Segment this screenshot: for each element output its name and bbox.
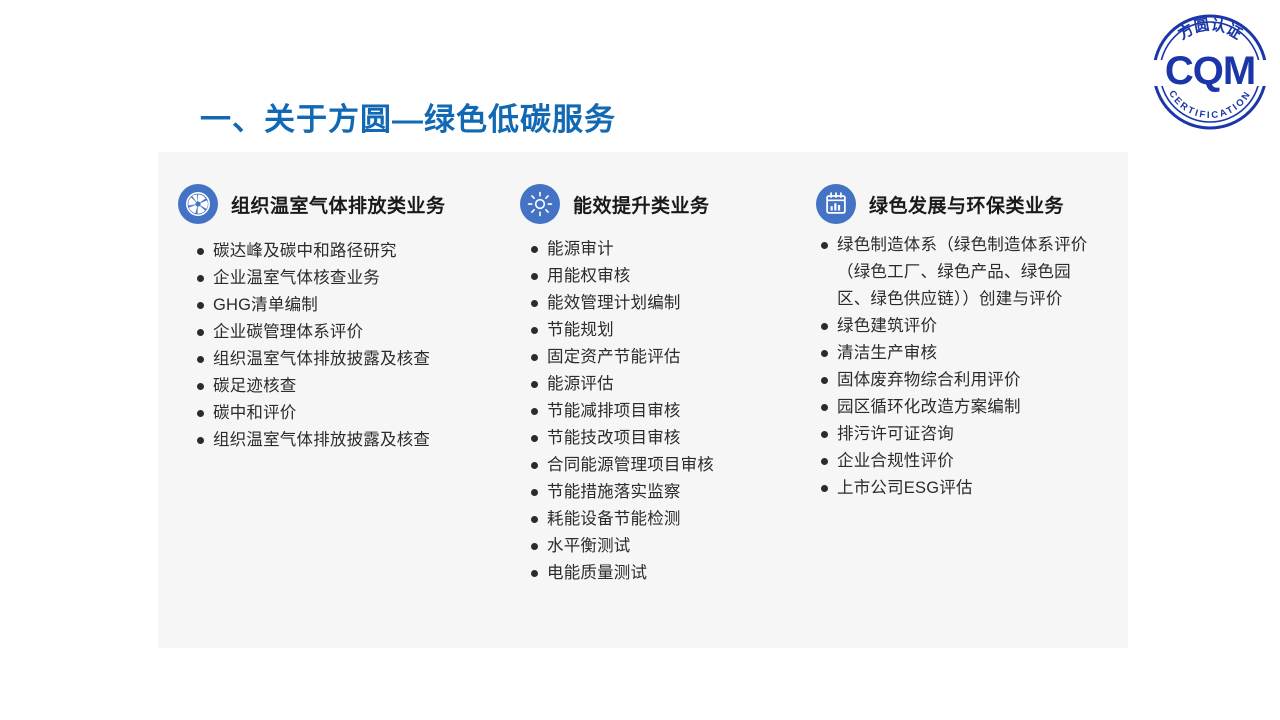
service-column-green-development: 绿色发展与环保类业务 绿色制造体系（绿色制造体系评价（绿色工厂、绿色产品、绿色园…: [808, 152, 1128, 502]
logo-center-text: CQM: [1165, 49, 1255, 93]
list-item: 能源评估: [530, 371, 808, 398]
list-item: 上市公司ESG评估: [820, 475, 1095, 502]
service-column-energy-efficiency: 能效提升类业务 能源审计 用能权审核 能效管理计划编制 节能规划 固定资产节能评…: [508, 152, 808, 587]
list-item: 碳达峰及碳中和路径研究: [196, 238, 508, 265]
column-header: 绿色发展与环保类业务: [816, 184, 1128, 224]
list-item: 固定资产节能评估: [530, 344, 808, 371]
column-title: 组织温室气体排放类业务: [231, 191, 446, 218]
logo-arc-bottom-text: CERTIFICATION: [1166, 89, 1254, 122]
list-item: 电能质量测试: [530, 560, 808, 587]
list-item: 组织温室气体排放披露及核查: [196, 427, 508, 454]
list-item: 绿色制造体系（绿色制造体系评价（绿色工厂、绿色产品、绿色园区、绿色供应链））创建…: [820, 232, 1095, 313]
list-item: 节能规划: [530, 317, 808, 344]
content-panel: 组织温室气体排放类业务 碳达峰及碳中和路径研究 企业温室气体核查业务 GHG清单…: [158, 152, 1128, 648]
slide-root: 方圆认证 CERTIFICATION CQM 一、关于方圆—绿色低碳服务: [0, 0, 1280, 720]
column-header: 能效提升类业务: [520, 184, 808, 224]
calendar-chart-icon: [816, 184, 856, 224]
list-item: 绿色建筑评价: [820, 313, 1095, 340]
list-item: 用能权审核: [530, 263, 808, 290]
service-column-greenhouse-gas: 组织温室气体排放类业务 碳达峰及碳中和路径研究 企业温室气体核查业务 GHG清单…: [158, 152, 508, 454]
list-item: 合同能源管理项目审核: [530, 452, 808, 479]
list-item: 企业合规性评价: [820, 448, 1095, 475]
list-item: 能效管理计划编制: [530, 290, 808, 317]
service-list: 能源审计 用能权审核 能效管理计划编制 节能规划 固定资产节能评估 能源评估 节…: [530, 236, 808, 587]
page-title: 一、关于方圆—绿色低碳服务: [200, 94, 616, 139]
service-list: 碳达峰及碳中和路径研究 企业温室气体核查业务 GHG清单编制 企业碳管理体系评价…: [196, 238, 508, 454]
list-item: 节能技改项目审核: [530, 425, 808, 452]
column-title: 绿色发展与环保类业务: [869, 191, 1064, 218]
list-item: 节能措施落实监察: [530, 479, 808, 506]
aperture-icon: [178, 184, 218, 224]
list-item: 碳足迹核查: [196, 373, 508, 400]
column-header: 组织温室气体排放类业务: [178, 184, 508, 224]
list-item: 碳中和评价: [196, 400, 508, 427]
list-item: 企业碳管理体系评价: [196, 319, 508, 346]
list-item: 企业温室气体核查业务: [196, 265, 508, 292]
list-item: 耗能设备节能检测: [530, 506, 808, 533]
list-item: 能源审计: [530, 236, 808, 263]
list-item: 水平衡测试: [530, 533, 808, 560]
list-item: 固体废弃物综合利用评价: [820, 367, 1095, 394]
list-item: 组织温室气体排放披露及核查: [196, 346, 508, 373]
list-item: GHG清单编制: [196, 292, 508, 319]
service-list: 绿色制造体系（绿色制造体系评价（绿色工厂、绿色产品、绿色园区、绿色供应链））创建…: [820, 232, 1128, 502]
cqm-certification-logo: 方圆认证 CERTIFICATION CQM: [1146, 8, 1274, 136]
service-columns: 组织温室气体排放类业务 碳达峰及碳中和路径研究 企业温室气体核查业务 GHG清单…: [158, 152, 1128, 648]
list-item: 节能减排项目审核: [530, 398, 808, 425]
list-item: 清洁生产审核: [820, 340, 1095, 367]
list-item: 排污许可证咨询: [820, 421, 1095, 448]
sun-brightness-icon: [520, 184, 560, 224]
logo-arc-top-text: 方圆认证: [1175, 16, 1245, 44]
column-title: 能效提升类业务: [573, 191, 710, 218]
list-item: 园区循环化改造方案编制: [820, 394, 1095, 421]
